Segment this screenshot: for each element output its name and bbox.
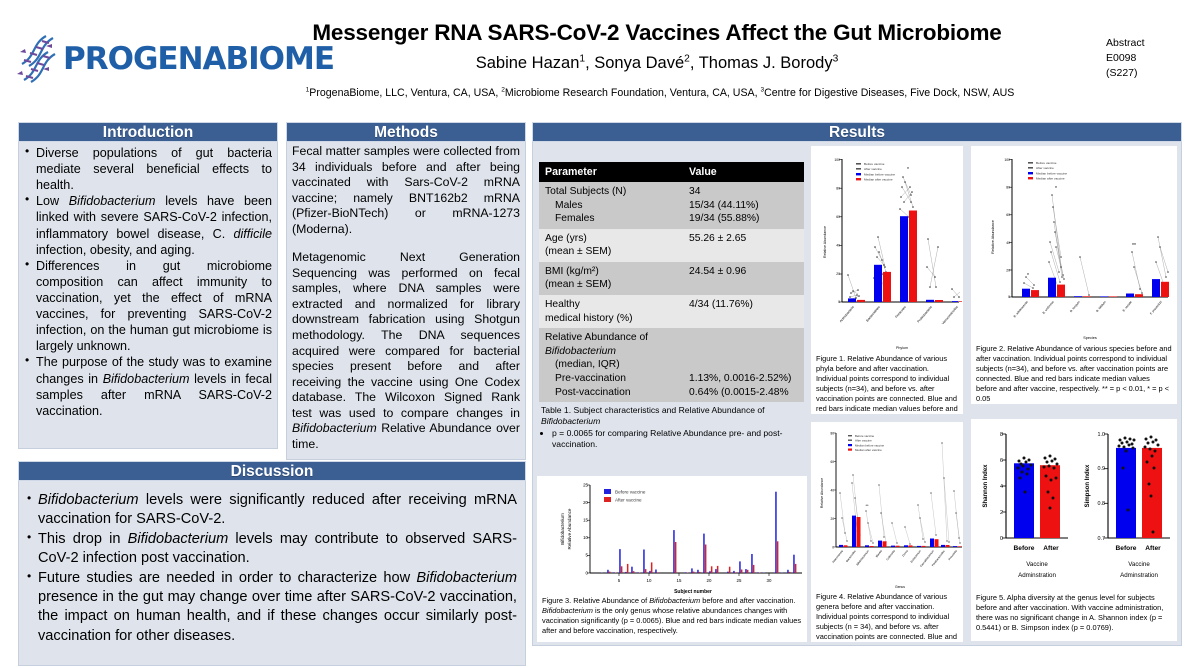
figure2-box: 10080 6040 200 Relative Abundance Before… [971, 146, 1177, 404]
table-cell-value: 55.26 ± 2.65 [683, 229, 804, 262]
svg-text:F. prausnitzii: F. prausnitzii [1149, 300, 1163, 316]
table1: Parameter Value Total Subjects (N)MalesF… [539, 162, 804, 402]
results-body: Parameter Value Total Subjects (N)MalesF… [532, 142, 1182, 646]
svg-text:*: * [1055, 186, 1057, 192]
author-list: Sabine Hazan1, Sonya Davé2, Thomas J. Bo… [262, 54, 1052, 74]
abstract-identifier: Abstract E0098 (S227) [1106, 36, 1190, 81]
figure4-box: 8060 40200 Relative Abundance Before vac… [811, 422, 963, 642]
table-cell-parameter: Total Subjects (N)MalesFemales [539, 182, 683, 229]
affiliations: 1ProgenaBiome, LLC, Ventura, CA, USA, 2M… [140, 87, 1180, 100]
svg-text:2: 2 [1000, 510, 1003, 516]
table-cell-parameter: Healthymedical history (%) [539, 295, 683, 328]
methods-paragraphs: Fecal matter samples were collected from… [292, 144, 520, 452]
list-item: Low Bifidobacterium levels have been lin… [23, 193, 272, 257]
list-item: Diverse populations of gut bacteria medi… [23, 145, 272, 193]
figure5-shannon-after-bar [1040, 465, 1060, 538]
svg-text:60: 60 [830, 460, 834, 464]
figure3-caption: Figure 3. Relative Abundance of Bifidoba… [538, 595, 806, 636]
svg-text:**: ** [1132, 243, 1136, 249]
svg-text:30: 30 [767, 578, 772, 583]
figure1-bars [848, 211, 963, 303]
introduction-bullet-list: Diverse populations of gut bacteria medi… [23, 145, 272, 419]
table1-col-value: Value [683, 162, 804, 182]
svg-text:Median after vaccine: Median after vaccine [864, 178, 893, 182]
list-item: The purpose of the study was to examine … [23, 354, 272, 418]
table-cell-parameter: BMI (kg/m²)(mean ± SEM) [539, 262, 683, 295]
figure3-bars-before [601, 492, 795, 573]
figure5-simpson-after-bar [1142, 448, 1162, 538]
table-cell-value: 3415/34 (44.11%)19/34 (55.88%) [683, 182, 804, 229]
svg-text:1.0: 1.0 [1098, 432, 1106, 438]
figure5-shannon-ylabel: Shannon Index [983, 464, 989, 508]
svg-text:Median before vaccine: Median before vaccine [864, 173, 895, 177]
svg-text:6: 6 [1000, 458, 1003, 464]
abstract-session: (S227) [1106, 66, 1190, 81]
list-item: This drop in Bifidobacterium levels may … [25, 530, 517, 569]
svg-text:100: 100 [834, 158, 840, 162]
svg-text:Bacteroides: Bacteroides [845, 549, 857, 563]
table-row: Relative Abundance ofBifidobacterium(med… [539, 328, 804, 402]
svg-text:*: * [907, 167, 909, 173]
svg-text:0: 0 [1000, 536, 1003, 542]
svg-text:Before vaccine: Before vaccine [864, 162, 885, 166]
introduction-body: Diverse populations of gut bacteria medi… [18, 142, 278, 449]
table1-caption-notes: p = 0.0065 for comparing Relative Abunda… [541, 428, 802, 450]
abstract-label: Abstract [1106, 36, 1190, 51]
table-cell-value: 4/34 (11.76%) [683, 295, 804, 328]
table-row: Total Subjects (N)MalesFemales3415/34 (4… [539, 182, 804, 229]
svg-text:60: 60 [1006, 213, 1010, 217]
figure2-chart: 10080 6040 200 Relative Abundance Before… [972, 147, 1177, 343]
svg-text:80: 80 [1006, 186, 1010, 190]
poster-root: PROGENABIOME Messenger RNA SARS-CoV-2 Va… [0, 0, 1200, 668]
list-item: Differences in gut microbiome compositio… [23, 258, 272, 355]
table-cell-parameter: Age (yrs)(mean ± SEM) [539, 229, 683, 262]
figure5-chart: 864 20 Shannon Index [972, 420, 1177, 592]
discussion-body: Bifidobacterium levels were significantl… [18, 481, 526, 666]
dna-helix-icon [14, 34, 66, 84]
svg-text:After vaccine: After vaccine [615, 498, 642, 503]
figure5-shannon-cat-after: After [1043, 545, 1059, 552]
figure3-xlabel: Subject number [674, 589, 712, 595]
svg-text:Verrucomicrobia: Verrucomicrobia [941, 305, 959, 325]
table1-col-parameter: Parameter [539, 162, 683, 182]
svg-text:20: 20 [1006, 268, 1010, 272]
figure3-bars-after [609, 541, 797, 573]
svg-text:Proteobacteria: Proteobacteria [916, 305, 933, 324]
introduction-panel: Introduction Diverse populations of gut … [18, 122, 278, 449]
svg-text:Akkermansia: Akkermansia [831, 549, 844, 564]
methods-body: Fecal matter samples were collected from… [286, 142, 526, 460]
figure5-simpson-ylabel: Simpson Index [1085, 464, 1091, 507]
svg-text:20: 20 [707, 578, 712, 583]
poster-header: PROGENABIOME Messenger RNA SARS-CoV-2 Va… [0, 0, 1200, 113]
svg-text:Relative Abundance: Relative Abundance [991, 220, 995, 254]
svg-text:Collinsella: Collinsella [885, 549, 896, 562]
figure2-bars [1022, 278, 1169, 297]
figure3-box: 252015 1050 Bifidobacterium Relative Abu… [537, 476, 807, 642]
progenabiome-logo: PROGENABIOME [14, 33, 272, 85]
table-cell-value: 1.13%, 0.0016-2.52%)0.64% (0.0015-2.48% [683, 328, 804, 402]
figure4-xlabel: Genus [895, 585, 905, 589]
svg-text:10: 10 [647, 578, 652, 583]
svg-text:15: 15 [677, 578, 682, 583]
svg-text:0: 0 [832, 546, 834, 550]
svg-text:B. bifidum: B. bifidum [1095, 300, 1107, 313]
svg-text:20: 20 [830, 517, 834, 521]
svg-text:Eubacterium: Eubacterium [909, 549, 922, 564]
table1-header-row: Parameter Value [539, 162, 804, 182]
list-item: p = 0.0065 for comparing Relative Abunda… [552, 428, 802, 450]
svg-text:5: 5 [618, 578, 621, 583]
list-item: Bifidobacterium levels were significantl… [25, 491, 517, 530]
svg-text:0.9: 0.9 [1098, 466, 1106, 472]
figure4-chart: 8060 40200 Relative Abundance Before vac… [812, 423, 963, 591]
table1-body: Total Subjects (N)MalesFemales3415/34 (4… [539, 182, 804, 402]
svg-text:Median after vaccine: Median after vaccine [855, 448, 882, 452]
figure4-bars [839, 516, 962, 547]
svg-text:After vaccine: After vaccine [855, 438, 872, 442]
figure1-caption: Figure 1. Relative Abundance of various … [812, 353, 962, 414]
svg-text:0.7: 0.7 [1098, 536, 1106, 542]
methods-heading: Methods [286, 122, 526, 142]
figure5-simpson-cat-before: Before [1116, 545, 1137, 552]
svg-text:Bacteroidetes: Bacteroidetes [865, 305, 881, 323]
paragraph: Metagenomic Next Generation Sequencing w… [292, 250, 520, 452]
table-cell-parameter: Relative Abundance ofBifidobacterium(med… [539, 328, 683, 402]
methods-panel: Methods Fecal matter samples were collec… [286, 122, 526, 460]
svg-text:5: 5 [586, 553, 589, 558]
discussion-panel: Discussion Bifidobacterium levels were s… [18, 461, 526, 666]
results-heading: Results [532, 122, 1182, 142]
discussion-bullet-list: Bifidobacterium levels were significantl… [25, 491, 517, 646]
svg-text:Median after vaccine: Median after vaccine [1036, 177, 1065, 181]
svg-text:Bifidobacterium: Bifidobacterium [855, 549, 870, 567]
svg-text:40: 40 [1006, 241, 1010, 245]
svg-text:80: 80 [830, 432, 834, 436]
paragraph: Fecal matter samples were collected from… [292, 144, 520, 237]
svg-text:Relative Abundance: Relative Abundance [567, 508, 572, 549]
poster-title: Messenger RNA SARS-CoV-2 Vaccines Affect… [262, 20, 1052, 46]
svg-text:*: * [1027, 273, 1029, 279]
svg-text:Dorea: Dorea [901, 549, 909, 558]
svg-text:After vaccine: After vaccine [1036, 166, 1054, 170]
figure1-xlabel: Phylum [896, 346, 908, 350]
table-row: BMI (kg/m²)(mean ± SEM)24.54 ± 0.96 [539, 262, 804, 295]
svg-text:Blautia: Blautia [875, 549, 884, 558]
table-row: Age (yrs)(mean ± SEM)55.26 ± 2.65 [539, 229, 804, 262]
svg-text:Firmicutes: Firmicutes [894, 305, 907, 319]
figure4-caption: Figure 4. Relative Abundance of various … [812, 591, 962, 642]
svg-text:B. longum: B. longum [1069, 300, 1081, 313]
svg-text:0.8: 0.8 [1098, 501, 1106, 507]
svg-text:Bifidobacterium: Bifidobacterium [560, 513, 565, 545]
svg-text:B. adolescentis: B. adolescentis [1013, 300, 1029, 319]
svg-text:4: 4 [1000, 484, 1003, 490]
list-item: Future studies are needed in order to ch… [25, 569, 517, 647]
svg-text:Median before vaccine: Median before vaccine [1036, 172, 1067, 176]
svg-text:Relative Abundance: Relative Abundance [820, 478, 824, 508]
table1-caption-main: Table 1. Subject characteristics and Rel… [541, 405, 802, 428]
figure1-box: 10080 6040 200 Relative Abundance B [811, 146, 963, 414]
figure5-simpson-before-bar [1116, 448, 1136, 538]
table-row: Healthymedical history (%)4/34 (11.76%) [539, 295, 804, 328]
svg-text:Adminstration: Adminstration [1018, 572, 1056, 579]
figure5-box: 864 20 Shannon Index [971, 419, 1177, 641]
svg-text:Before vaccine: Before vaccine [1036, 161, 1057, 165]
svg-text:**: ** [865, 503, 869, 508]
results-panel: Results Parameter Value Total Subjects (… [532, 122, 1182, 646]
figure5-shannon-cat-before: Before [1014, 545, 1035, 552]
svg-text:Prevotella: Prevotella [947, 549, 958, 561]
table-cell-value: 24.54 ± 0.96 [683, 262, 804, 295]
svg-text:8: 8 [1000, 432, 1003, 438]
svg-text:100: 100 [1004, 158, 1010, 162]
svg-text:Before vaccine: Before vaccine [855, 434, 875, 438]
svg-text:Before vaccine: Before vaccine [615, 490, 646, 495]
svg-text:E. rectale: E. rectale [1122, 300, 1133, 313]
figure5-caption: Figure 5. Alpha diversity at the genus l… [972, 592, 1176, 633]
table1-wrapper: Parameter Value Total Subjects (N)MalesF… [539, 162, 804, 450]
figure5-shannon-before-bar [1014, 463, 1034, 538]
svg-text:40: 40 [830, 489, 834, 493]
svg-text:B. uniformis: B. uniformis [1042, 300, 1056, 315]
svg-text:Adminstration: Adminstration [1120, 572, 1158, 579]
discussion-heading: Discussion [18, 461, 526, 481]
figure5-simpson-cat-after: After [1145, 545, 1161, 552]
introduction-heading: Introduction [18, 122, 278, 142]
abstract-number: E0098 [1106, 51, 1190, 66]
figure3-chart: 252015 1050 Bifidobacterium Relative Abu… [538, 477, 807, 595]
table1-header: Parameter Value [539, 162, 804, 182]
svg-text:25: 25 [737, 578, 742, 583]
figure2-caption: Figure 2. Relative Abundance of various … [972, 343, 1176, 404]
figure2-xlabel: Species [1083, 336, 1097, 340]
figure1-chart: 10080 6040 200 Relative Abundance B [812, 147, 963, 353]
svg-text:Actinobacteria: Actinobacteria [839, 305, 855, 323]
svg-text:After vaccine: After vaccine [864, 167, 882, 171]
svg-text:Vaccine: Vaccine [1128, 561, 1150, 568]
svg-text:Relative Abundance: Relative Abundance [823, 226, 827, 258]
svg-text:Vaccine: Vaccine [1026, 561, 1048, 568]
svg-text:Median before vaccine: Median before vaccine [855, 443, 884, 447]
table1-caption: Table 1. Subject characteristics and Rel… [539, 402, 804, 450]
